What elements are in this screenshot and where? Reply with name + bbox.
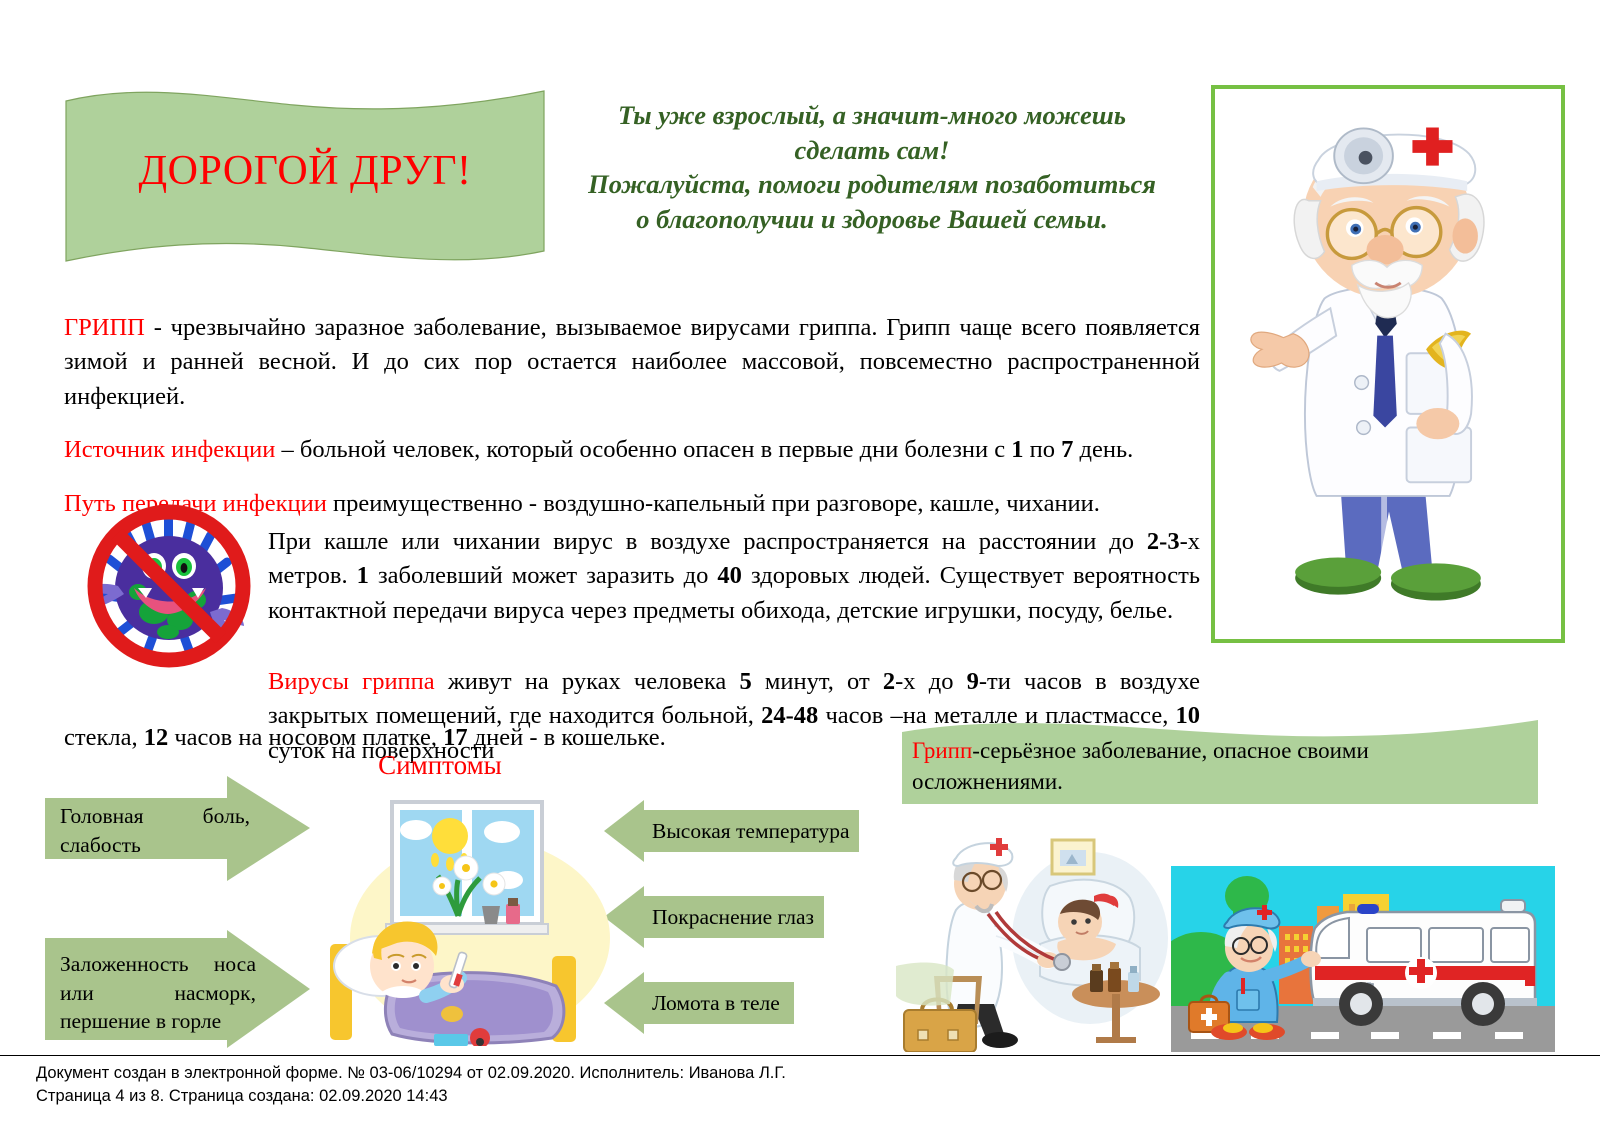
route-lead-text: преимущественно - воздушно-капельный при… (327, 490, 1100, 517)
symptom-body-ache-label: Ломота в теле (652, 989, 792, 1018)
life-number-3: 9 (967, 668, 979, 695)
route-text-1: При кашле или чихании вирус в воздухе ра… (268, 528, 1147, 555)
keyword-source: Источник инфекции (64, 436, 275, 463)
life-number-1: 5 (739, 668, 751, 695)
title-banner-text: ДОРОГОЙ ДРУГ! (62, 147, 548, 195)
keyword-viruses: Вирусы гриппа (268, 668, 435, 695)
source-number-1: 1 (1011, 436, 1023, 463)
source-text-1: – больной человек, который особенно опас… (275, 436, 1011, 463)
life-text-8: дней - в кошельке. (468, 724, 666, 751)
life-number-7: 17 (443, 724, 468, 751)
symptoms-title: Симптомы (340, 750, 540, 781)
life-text-6b: стекла, (64, 724, 144, 751)
footer-line-2: Страница 4 из 8. Страница создана: 02.09… (36, 1085, 1236, 1108)
life-number-2: 2 (883, 668, 895, 695)
paragraph-infection-source: Источник инфекции – больной человек, кот… (64, 433, 1200, 468)
sick-child-illustration (330, 788, 620, 1046)
doctor-illustration (1215, 89, 1561, 639)
symptom-body-ache-arrow: Ломота в теле (604, 972, 794, 1034)
footer-divider (0, 1055, 1600, 1056)
symptom-fever-arrow: Высокая температура (604, 800, 859, 862)
symptom-red-eyes-label: Покраснение глаз (652, 903, 822, 932)
life-text-3: -х до (895, 668, 967, 695)
no-virus-icon-shape (76, 500, 262, 670)
symptom-stuffy-nose-arrow: Заложенность носа или насморк, першение … (45, 930, 310, 1048)
symptom-headache-label: Головная боль, слабость (60, 802, 250, 859)
no-virus-icon (76, 500, 262, 670)
symptom-headache-arrow: Головная боль, слабость (45, 776, 310, 881)
complication-banner-text: Грипп-серьёзное заболевание, опасное сво… (912, 736, 1512, 797)
life-number-6: 12 (144, 724, 169, 751)
route-text-3: заболевший может заразить до (369, 562, 718, 589)
route-number-2: 1 (357, 562, 369, 589)
route-number-3: 40 (717, 562, 742, 589)
paragraph-route-body: При кашле или чихании вирус в воздухе ра… (268, 525, 1200, 629)
keyword-grip-complication: Грипп (912, 738, 972, 763)
symptom-red-eyes-arrow: Покраснение глаз (604, 886, 824, 948)
symptom-fever-label: Высокая температура (652, 817, 852, 846)
paragraph-grip-definition: ГРИПП - чрезвычайно заразное заболевание… (64, 311, 1200, 415)
header-line-3: Пожалуйста, помоги родителям позаботитьс… (536, 167, 1208, 202)
ambulance-shape (1171, 866, 1555, 1052)
complication-text: -серьёзное заболевание, опасное своими о… (912, 738, 1369, 794)
route-number-1: 2-3 (1147, 528, 1180, 555)
footer-text: Документ создан в электронной форме. № 0… (36, 1062, 1236, 1109)
source-text-3: день. (1073, 436, 1133, 463)
doctor-visit-illustration (890, 818, 1168, 1052)
complication-banner: Грипп-серьёзное заболевание, опасное сво… (900, 718, 1540, 804)
source-number-2: 7 (1061, 436, 1073, 463)
sick-child-shape (330, 788, 620, 1046)
header-line-2: сделать сам! (536, 133, 1208, 168)
header-line-1: Ты уже взрослый, а значит-много можешь (536, 98, 1208, 133)
title-banner: ДОРОГОЙ ДРУГ! (62, 85, 548, 269)
header-message: Ты уже взрослый, а значит-много можешь с… (536, 98, 1208, 237)
doctor-portrait-frame (1211, 85, 1565, 643)
source-text-2: по (1024, 436, 1062, 463)
header-line-4: о благополучии и здоровье Вашей семьи. (536, 202, 1208, 237)
footer-line-1: Документ создан в электронной форме. № 0… (36, 1062, 1236, 1085)
life-text-7: часов на носовом платке, (168, 724, 443, 751)
paragraph-grip-text: - чрезвычайно заразное заболевание, вызы… (64, 314, 1200, 411)
life-text-1: живут на руках человека (435, 668, 740, 695)
doctor-visit-shape (890, 818, 1168, 1052)
life-text-2: минут, от (752, 668, 883, 695)
symptom-stuffy-nose-label: Заложенность носа или насморк, першение … (60, 950, 256, 1036)
ambulance-illustration (1171, 866, 1555, 1052)
keyword-grip: ГРИПП (64, 314, 145, 341)
